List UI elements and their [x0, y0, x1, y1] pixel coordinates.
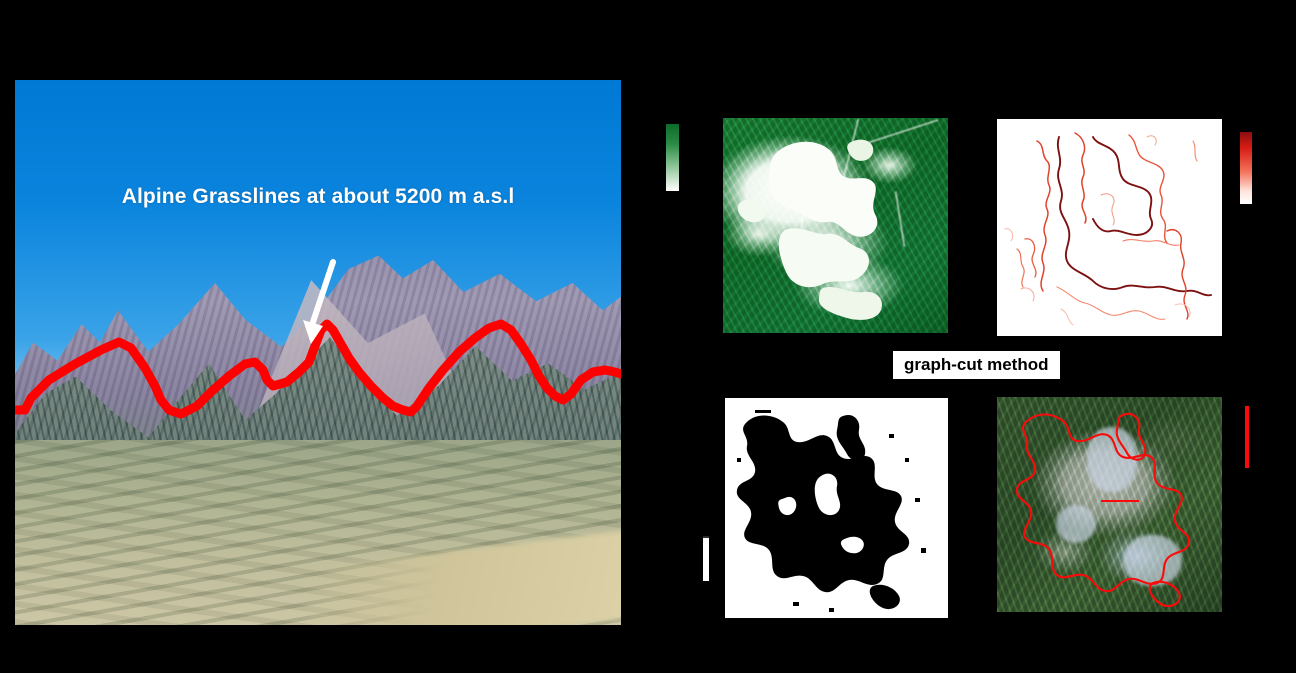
secondary-edge-contour — [1017, 249, 1024, 287]
binary-segmentation-mask — [725, 398, 948, 618]
ndvi-bare-ground-patches — [723, 118, 948, 333]
secondary-edge-contour — [1005, 229, 1013, 241]
mask-speck — [793, 602, 799, 606]
edge-contours — [997, 119, 1222, 336]
figure-canvas: Alpine Grasslines at about 5200 m a.s.l — [0, 0, 1296, 673]
mask-speck — [829, 608, 834, 612]
extracted-grassline-boundary — [1117, 414, 1146, 460]
extracted-boundary-overlay — [997, 397, 1222, 612]
mask-speck — [737, 458, 741, 462]
extracted-grassline-boundary — [1017, 415, 1189, 592]
ndvi-vegetation-index-map — [723, 118, 948, 333]
alpine-grassline-photograph: Alpine Grasslines at about 5200 m a.s.l — [15, 80, 621, 625]
bare-ground-patch — [847, 140, 873, 161]
ndvi-colorbar — [666, 124, 679, 191]
mask-blob — [837, 415, 866, 461]
secondary-edge-contour — [1057, 287, 1165, 319]
mask-blob — [870, 585, 900, 609]
secondary-edge-contour — [1167, 230, 1188, 319]
bare-ground-patch — [779, 228, 869, 287]
graph-cut-method-label: graph-cut method — [893, 351, 1060, 379]
satellite-image-with-extracted-boundary — [997, 397, 1222, 612]
secondary-edge-contour — [1075, 133, 1086, 223]
mask-speck — [905, 458, 909, 462]
edge-probability-map — [997, 119, 1222, 336]
mask-speck — [755, 410, 771, 413]
mask-speck — [889, 434, 894, 438]
primary-edge-contour — [1058, 137, 1211, 295]
secondary-edge-contour — [1025, 239, 1036, 277]
mask-speck — [915, 498, 920, 502]
secondary-edge-contour — [1037, 141, 1050, 291]
secondary-edge-contour — [1147, 136, 1156, 145]
secondary-edge-contour — [1123, 240, 1179, 246]
secondary-edge-contour — [1193, 141, 1197, 161]
secondary-edge-contour — [1061, 309, 1073, 325]
edge-colorbar — [1240, 132, 1252, 204]
mask-foreground-regions — [725, 398, 948, 618]
extracted-grassline-boundary — [1150, 582, 1180, 606]
red-grassline-trace — [15, 324, 621, 414]
mask-colorbar — [703, 536, 709, 581]
secondary-edge-contour — [1129, 135, 1167, 243]
secondary-edge-contour — [1101, 194, 1114, 225]
boundary-colorbar — [1245, 406, 1249, 468]
grassline-overlay — [15, 80, 621, 625]
primary-edge-contour — [1093, 137, 1152, 235]
secondary-edge-contour — [1021, 288, 1034, 301]
mask-speck — [921, 548, 926, 553]
bare-ground-patch — [738, 199, 766, 222]
bare-ground-patch — [819, 287, 882, 320]
